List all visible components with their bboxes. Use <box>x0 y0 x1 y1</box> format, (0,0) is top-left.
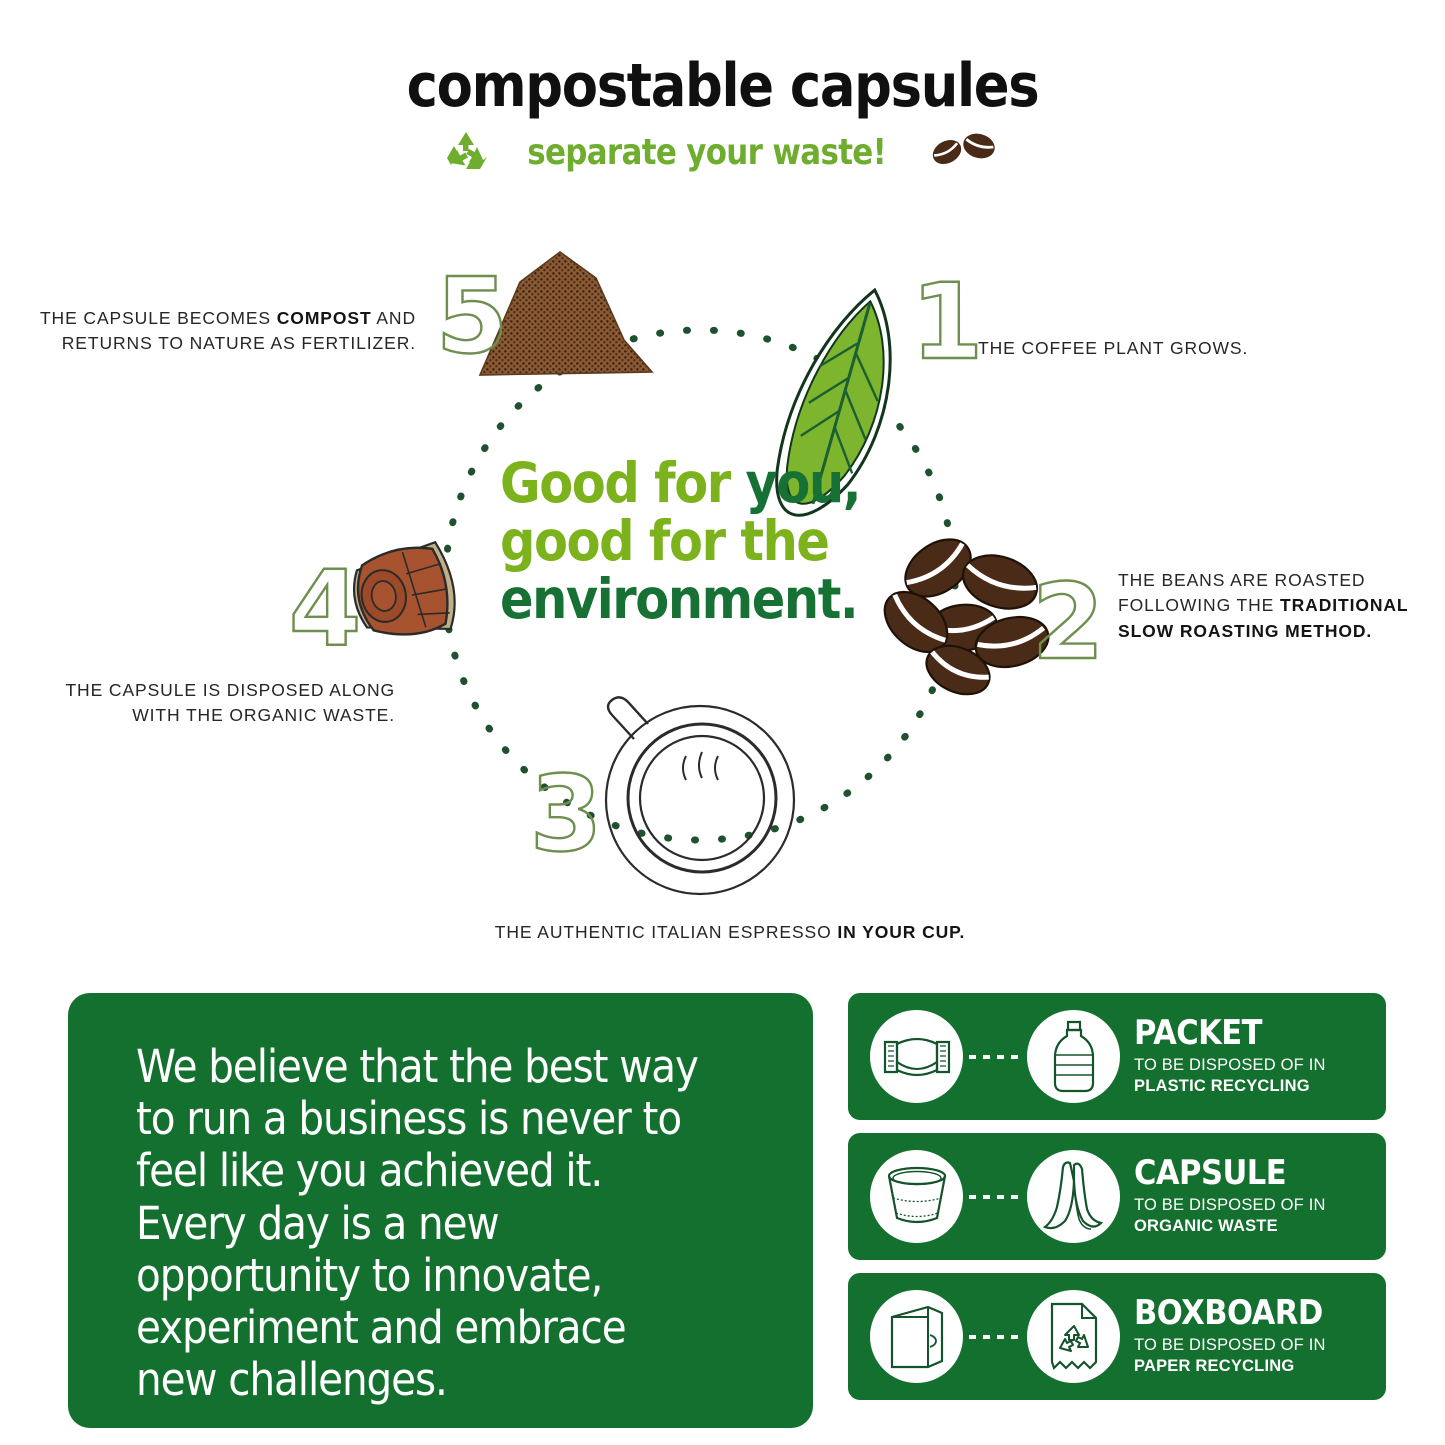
card-subtitle: TO BE DISPOSED OF IN PLASTIC RECYCLING <box>1134 1055 1326 1097</box>
dotted-connector <box>969 1195 1021 1199</box>
slogan-line-2: good for the <box>500 513 878 571</box>
coffee-beans-icon-step2 <box>873 528 1054 704</box>
slogan-line1-dark: you, <box>746 451 861 515</box>
card-title: PACKET <box>1134 1016 1306 1050</box>
infographic-root: compostable capsules separate your waste… <box>0 0 1445 1445</box>
step-number-4: 4 <box>289 548 361 670</box>
slogan: Good for you, good for the environment. <box>500 455 878 628</box>
boxboard-icon <box>870 1290 963 1383</box>
card-text: PACKET TO BE DISPOSED OF IN PLASTIC RECY… <box>1134 1016 1326 1097</box>
card-text: BOXBOARD TO BE DISPOSED OF IN PAPER RECY… <box>1134 1296 1386 1377</box>
disposal-card-packet[interactable]: PACKET TO BE DISPOSED OF IN PLASTIC RECY… <box>848 993 1386 1120</box>
icon-pair <box>870 1007 1120 1107</box>
bottom-section: We believe that the best way to run a bu… <box>0 985 1445 1445</box>
header-subtitle: separate your waste! <box>527 135 886 171</box>
disposal-card-boxboard[interactable]: BOXBOARD TO BE DISPOSED OF IN PAPER RECY… <box>848 1273 1386 1400</box>
packet-icon <box>870 1010 963 1103</box>
icon-pair <box>870 1147 1120 1247</box>
header-subtitle-row: separate your waste! <box>0 122 1445 183</box>
quote-panel: We believe that the best way to run a bu… <box>68 993 813 1428</box>
step-number-2: 2 <box>1032 561 1104 683</box>
card-title: CAPSULE <box>1134 1156 1306 1190</box>
slogan-line-3: environment. <box>500 571 878 629</box>
dotted-connector <box>969 1055 1021 1059</box>
card-subtitle: TO BE DISPOSED OF IN PAPER RECYCLING <box>1134 1335 1386 1377</box>
coffee-beans-icon <box>923 122 1001 183</box>
header: compostable capsules separate your waste… <box>0 56 1445 183</box>
paper-recycling-icon <box>1027 1290 1120 1383</box>
recycle-icon <box>444 129 490 176</box>
quote-text: We believe that the best way to run a bu… <box>136 1041 703 1406</box>
step-5-caption: THE CAPSULE BECOMES COMPOST AND RETURNS … <box>26 306 416 357</box>
coffee-capsule-icon <box>348 541 461 645</box>
icon-pair <box>870 1287 1120 1387</box>
step-number-1: 1 <box>911 261 983 383</box>
banana-peel-icon <box>1027 1150 1120 1243</box>
card-title: BOXBOARD <box>1134 1296 1361 1330</box>
plastic-bottle-icon <box>1027 1010 1120 1103</box>
page-title: compostable capsules <box>87 56 1359 116</box>
step-3-caption: THE AUTHENTIC ITALIAN ESPRESSO IN YOUR C… <box>420 920 1040 945</box>
slogan-line1-light: Good for <box>500 451 746 515</box>
espresso-cup-icon <box>606 697 794 894</box>
disposal-card-capsule[interactable]: CAPSULE TO BE DISPOSED OF IN ORGANIC WAS… <box>848 1133 1386 1260</box>
dotted-connector <box>969 1335 1021 1339</box>
step-2-caption: THE BEANS ARE ROASTED FOLLOWING THE TRAD… <box>1118 568 1428 644</box>
slogan-line-1: Good for you, <box>500 455 878 513</box>
step-number-5: 5 <box>436 255 508 377</box>
lifecycle-diagram: 5 1 <box>0 230 1445 970</box>
card-text: CAPSULE TO BE DISPOSED OF IN ORGANIC WAS… <box>1134 1156 1326 1237</box>
step-4-caption: THE CAPSULE IS DISPOSED ALONG WITH THE O… <box>55 678 395 729</box>
step-number-3: 3 <box>530 753 602 875</box>
card-subtitle: TO BE DISPOSED OF IN ORGANIC WASTE <box>1134 1195 1326 1237</box>
capsule-icon <box>870 1150 963 1243</box>
step-1-caption: THE COFFEE PLANT GROWS. <box>978 336 1308 361</box>
